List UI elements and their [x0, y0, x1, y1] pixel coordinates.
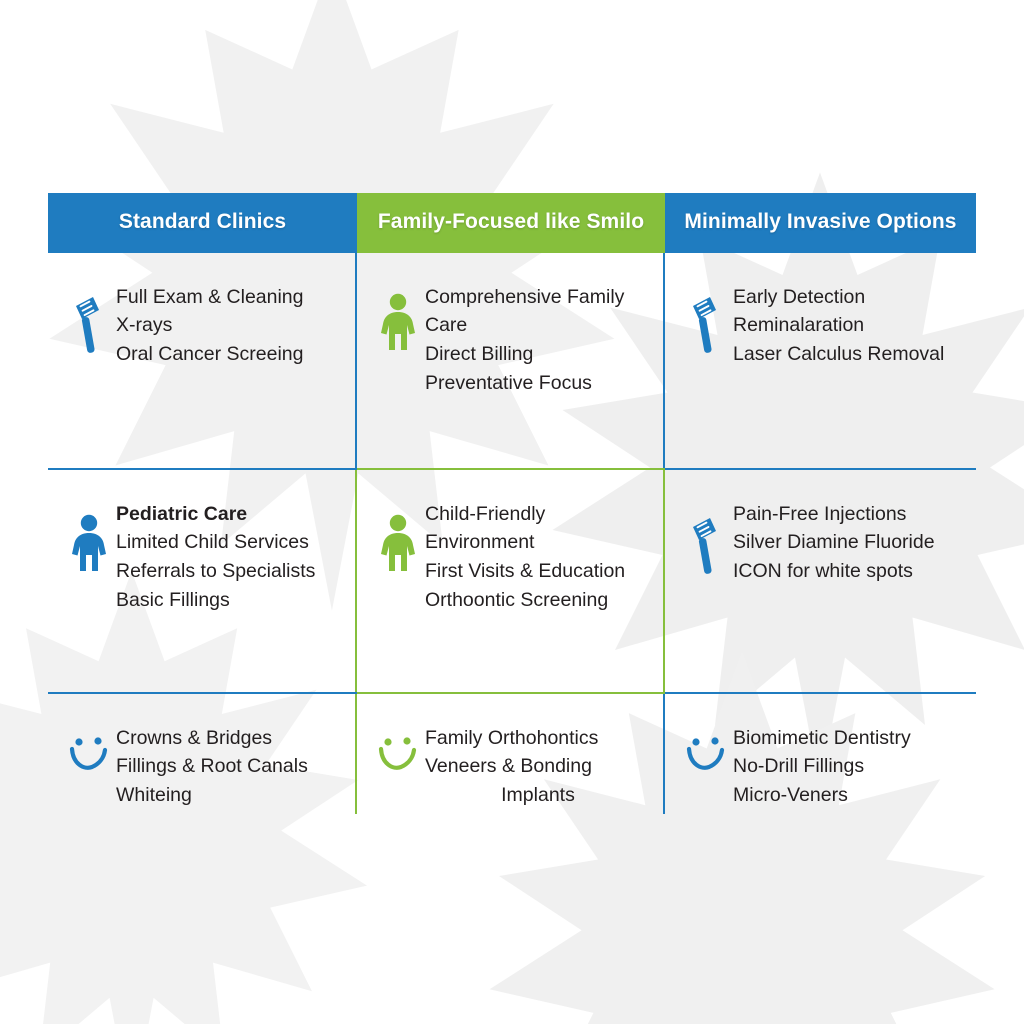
person-icon: [371, 498, 425, 572]
list-item: Preventative Focus: [425, 369, 651, 398]
table-row: Crowns & Bridges Fillings & Root Canals …: [48, 694, 976, 814]
list-item: Silver Diamine Fluoride: [733, 528, 962, 557]
list-item: Veneers & Bonding: [425, 752, 651, 781]
cell-text-list: Biomimetic Dentistry No-Drill Fillings M…: [733, 722, 962, 810]
list-item: Crowns & Bridges: [116, 724, 343, 753]
list-item: No-Drill Fillings: [733, 752, 962, 781]
list-item: First Visits & Education: [425, 557, 651, 586]
list-item: Basic Fillings: [116, 586, 343, 615]
cell-text-list: Pain-Free Injections Silver Diamine Fluo…: [733, 498, 962, 586]
cell-text-list: Child-Friendly Environment First Visits …: [425, 498, 651, 615]
list-item: Implants: [425, 781, 651, 810]
toothbrush-icon: [62, 281, 116, 355]
cell-minimal-pediatric: Pain-Free Injections Silver Diamine Fluo…: [665, 470, 976, 692]
cell-family-pediatric: Child-Friendly Environment First Visits …: [357, 470, 665, 692]
cell-standard-pediatric: Pediatric Care Limited Child Services Re…: [48, 470, 357, 692]
toothbrush-icon: [679, 498, 733, 576]
cell-standard-preventive: Full Exam & Cleaning X-rays Oral Cancer …: [48, 253, 357, 468]
list-item: Full Exam & Cleaning: [116, 283, 343, 312]
list-item: Direct Billing: [425, 340, 651, 369]
list-item: Referrals to Specialists: [116, 557, 343, 586]
smile-icon: [371, 722, 425, 772]
table-row: Full Exam & Cleaning X-rays Oral Cancer …: [48, 253, 976, 468]
list-item: Biomimetic Dentistry: [733, 724, 962, 753]
cell-minimal-restorative: Biomimetic Dentistry No-Drill Fillings M…: [665, 694, 976, 814]
list-item: ICON for white spots: [733, 557, 962, 586]
list-item: Pain-Free Injections: [733, 500, 962, 529]
table-row: Pediatric Care Limited Child Services Re…: [48, 470, 976, 692]
list-item: Pediatric Care: [116, 500, 343, 529]
cell-text-list: Pediatric Care Limited Child Services Re…: [116, 498, 343, 615]
list-item: Fillings & Root Canals: [116, 752, 343, 781]
person-icon: [371, 281, 425, 351]
list-item: Whiteing: [116, 781, 343, 810]
smile-icon: [679, 722, 733, 772]
list-item: Comprehensive Family: [425, 283, 651, 312]
cell-text-list: Crowns & Bridges Fillings & Root Canals …: [116, 722, 343, 810]
list-item: Care: [425, 311, 651, 340]
list-item: Family Orthohontics: [425, 724, 651, 753]
cell-text-list: Family Orthohontics Veneers & Bonding Im…: [425, 722, 651, 810]
list-item: Orthoontic Screening: [425, 586, 651, 615]
list-item: Oral Cancer Screeing: [116, 340, 343, 369]
cell-text-list: Comprehensive Family Care Direct Billing…: [425, 281, 651, 398]
list-item: Micro-Veners: [733, 781, 962, 810]
comparison-table: Standard Clinics Family-Focused like Smi…: [48, 193, 976, 814]
smile-icon: [62, 722, 116, 772]
cell-standard-restorative: Crowns & Bridges Fillings & Root Canals …: [48, 694, 357, 814]
list-item: Early Detection: [733, 283, 962, 312]
list-item: Child-Friendly: [425, 500, 651, 529]
column-header-standard-clinics: Standard Clinics: [48, 193, 357, 253]
column-header-label: Minimally Invasive Options: [684, 210, 956, 233]
cell-text-list: Early Detection Reminalaration Laser Cal…: [733, 281, 962, 369]
list-item: Limited Child Services: [116, 528, 343, 557]
cell-minimal-preventive: Early Detection Reminalaration Laser Cal…: [665, 253, 976, 468]
column-header-family-focused: Family-Focused like Smilo: [357, 193, 665, 253]
list-item: X-rays: [116, 311, 343, 340]
person-icon: [62, 498, 116, 572]
cell-text-list: Full Exam & Cleaning X-rays Oral Cancer …: [116, 281, 343, 369]
column-header-label: Family-Focused like Smilo: [378, 210, 644, 233]
table-header-row: Standard Clinics Family-Focused like Smi…: [48, 193, 976, 253]
table-body: Full Exam & Cleaning X-rays Oral Cancer …: [48, 253, 976, 814]
list-item: Environment: [425, 528, 651, 557]
cell-family-preventive: Comprehensive Family Care Direct Billing…: [357, 253, 665, 468]
column-header-minimally-invasive: Minimally Invasive Options: [665, 193, 976, 253]
list-item: Reminalaration: [733, 311, 962, 340]
column-header-label: Standard Clinics: [119, 210, 286, 233]
toothbrush-icon: [679, 281, 733, 355]
list-item: Laser Calculus Removal: [733, 340, 962, 369]
cell-family-restorative: Family Orthohontics Veneers & Bonding Im…: [357, 694, 665, 814]
